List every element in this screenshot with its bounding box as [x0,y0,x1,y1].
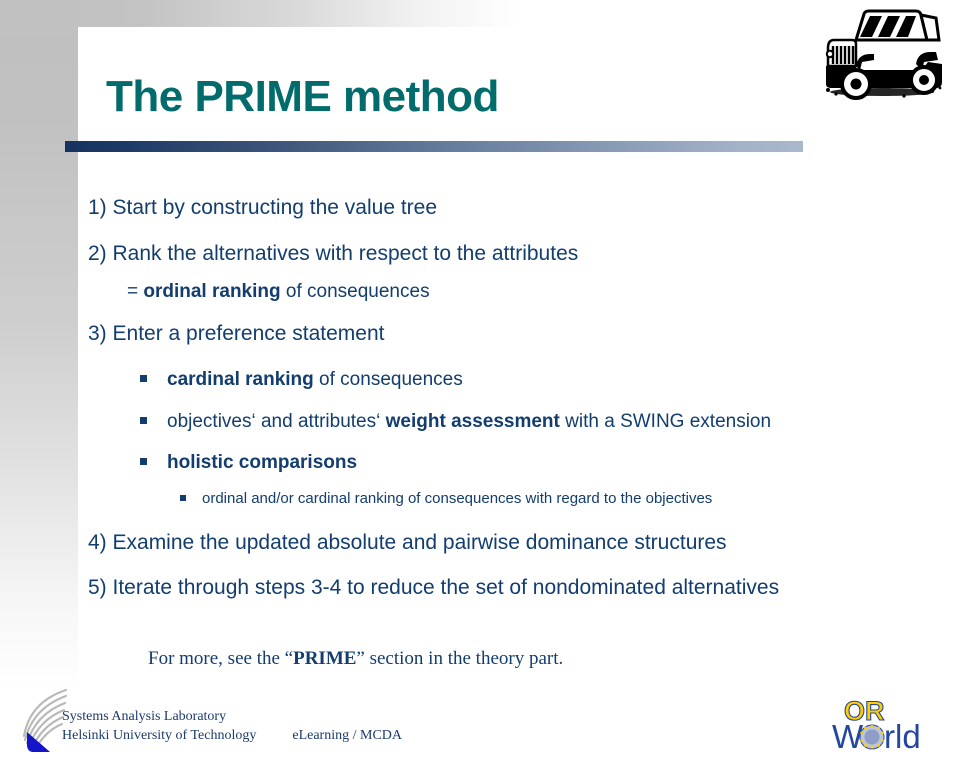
sub-ordinal-rest: of consequences [281,281,430,302]
footer-line-1: Systems Analysis Laboratory [62,707,402,726]
square-bullet-icon [140,417,147,424]
note-bold: PRIME [293,648,356,669]
footer-course: eLearning / MCDA [292,726,402,745]
bullet-lead: objectives‘ and attributes‘ [167,411,386,432]
step-3: 3) Enter a preference statement [88,322,385,346]
theory-part-note: For more, see the “PRIME” section in the… [148,648,563,670]
sub-bullet-ordinal-cardinal: ordinal and/or cardinal ranking of conse… [180,490,712,507]
footer-line-2: Helsinki University of Technology [62,728,256,743]
sub-ordinal-bold: ordinal ranking [143,281,280,302]
bullet-bold: cardinal ranking [167,369,314,390]
bullet-rest: of consequences [314,369,463,390]
bullet-holistic-comparisons: holistic comparisons [140,452,357,474]
square-bullet-icon [140,458,147,465]
footer-line-2-wrap: Helsinki University of TechnologyeLearni… [62,726,402,745]
square-bullet-icon [140,375,147,382]
or-world-logo: OR W rld [818,693,950,755]
bullet-bold: holistic comparisons [167,452,357,473]
footer-credits: Systems Analysis Laboratory Helsinki Uni… [62,707,402,745]
svg-text:rld: rld [884,718,921,755]
sub-bullet-text: ordinal and/or cardinal ranking of conse… [202,490,712,507]
bullet-cardinal-ranking: cardinal ranking of consequences [140,369,463,391]
svg-text:W: W [832,718,864,755]
bullet-bold: weight assessment [386,411,560,432]
step-2: 2) Rank the alternatives with respect to… [88,242,578,266]
note-after: ” section in the theory part. [356,648,563,669]
step-4: 4) Examine the updated absolute and pair… [88,531,727,555]
bullet-weight-assessment: objectives‘ and attributes‘ weight asses… [140,411,771,433]
bullet-rest: with a SWING extension [560,411,771,432]
sub-ordinal-prefix: = [127,281,143,302]
slide-canvas: The PRIME method 1) Start by constructin… [0,0,960,768]
sub-ordinal-ranking: = ordinal ranking of consequences [127,281,430,303]
note-before: For more, see the “ [148,648,293,669]
square-bullet-icon [180,495,186,501]
step-1: 1) Start by constructing the value tree [88,196,437,220]
step-5: 5) Iterate through steps 3-4 to reduce t… [88,576,779,600]
